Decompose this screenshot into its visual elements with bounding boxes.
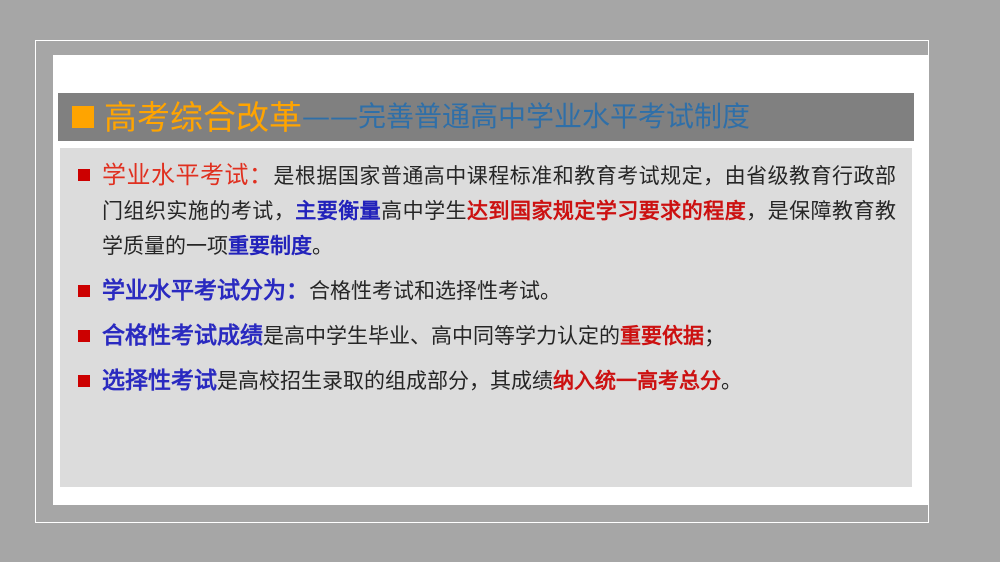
bullet-item-2-text: 学业水平考试分为：合格性考试和选择性考试。 (102, 272, 896, 309)
bullet-item-1-text: 学业水平考试：是根据国家普通高中课程标准和教育考试规定，由省级教育行政部门组织实… (102, 156, 896, 264)
bullet-item-3: 合格性考试成绩是高中学生毕业、高中同等学力认定的重要依据； (68, 317, 896, 354)
slide-title-dash: —— (302, 103, 358, 131)
bullet-4-run-1: 选择性考试 (102, 367, 217, 394)
slide-content-panel: 学业水平考试：是根据国家普通高中课程标准和教育考试规定，由省级教育行政部门组织实… (60, 148, 912, 487)
bullet-4-run-4: 。 (721, 369, 742, 393)
bullet-3-run-4: ； (704, 324, 725, 348)
bullet-item-3-text: 合格性考试成绩是高中学生毕业、高中同等学力认定的重要依据； (102, 317, 896, 354)
red-square-bullet-icon (78, 285, 90, 297)
slide-title-sub: 完善普通高中学业水平考试制度 (358, 103, 750, 131)
bullet-item-1: 学业水平考试：是根据国家普通高中课程标准和教育考试规定，由省级教育行政部门组织实… (68, 156, 896, 264)
bullet-1-run-1: 学业水平考试： (102, 161, 273, 189)
bullet-4-run-3: 纳入统一高考总分 (553, 368, 721, 393)
bullet-item-4-text: 选择性考试是高校招生录取的组成部分，其成绩纳入统一高考总分。 (102, 362, 896, 399)
bullet-3-run-3: 重要依据 (620, 323, 704, 348)
bullet-item-4: 选择性考试是高校招生录取的组成部分，其成绩纳入统一高考总分。 (68, 362, 896, 399)
bullet-4-run-2: 是高校招生录取的组成部分，其成绩 (217, 369, 553, 393)
bullet-item-2: 学业水平考试分为：合格性考试和选择性考试。 (68, 272, 896, 309)
bullet-1-run-7: 重要制度 (228, 233, 312, 258)
bullet-1-run-8: 。 (312, 234, 333, 258)
bullet-3-run-2: 是高中学生毕业、高中同等学力认定的 (263, 324, 620, 348)
bullet-3-run-1: 合格性考试成绩 (102, 322, 263, 349)
red-square-bullet-icon (78, 169, 90, 181)
bullet-2-run-1: 学业水平考试分为： (102, 277, 309, 304)
bullet-1-run-4: 高中学生 (381, 199, 467, 223)
red-square-bullet-icon (78, 330, 90, 342)
bullet-2-run-2: 合格性考试和选择性考试。 (309, 279, 561, 303)
slide-title-main: 高考综合改革 (104, 101, 302, 134)
bullet-1-run-5: 达到国家规定学习要求的程度 (467, 198, 746, 223)
orange-square-marker-icon (72, 106, 94, 128)
red-square-bullet-icon (78, 375, 90, 387)
slide-title-bar: 高考综合改革 —— 完善普通高中学业水平考试制度 (58, 93, 914, 141)
bullet-1-run-3: 主要衡量 (295, 198, 381, 223)
